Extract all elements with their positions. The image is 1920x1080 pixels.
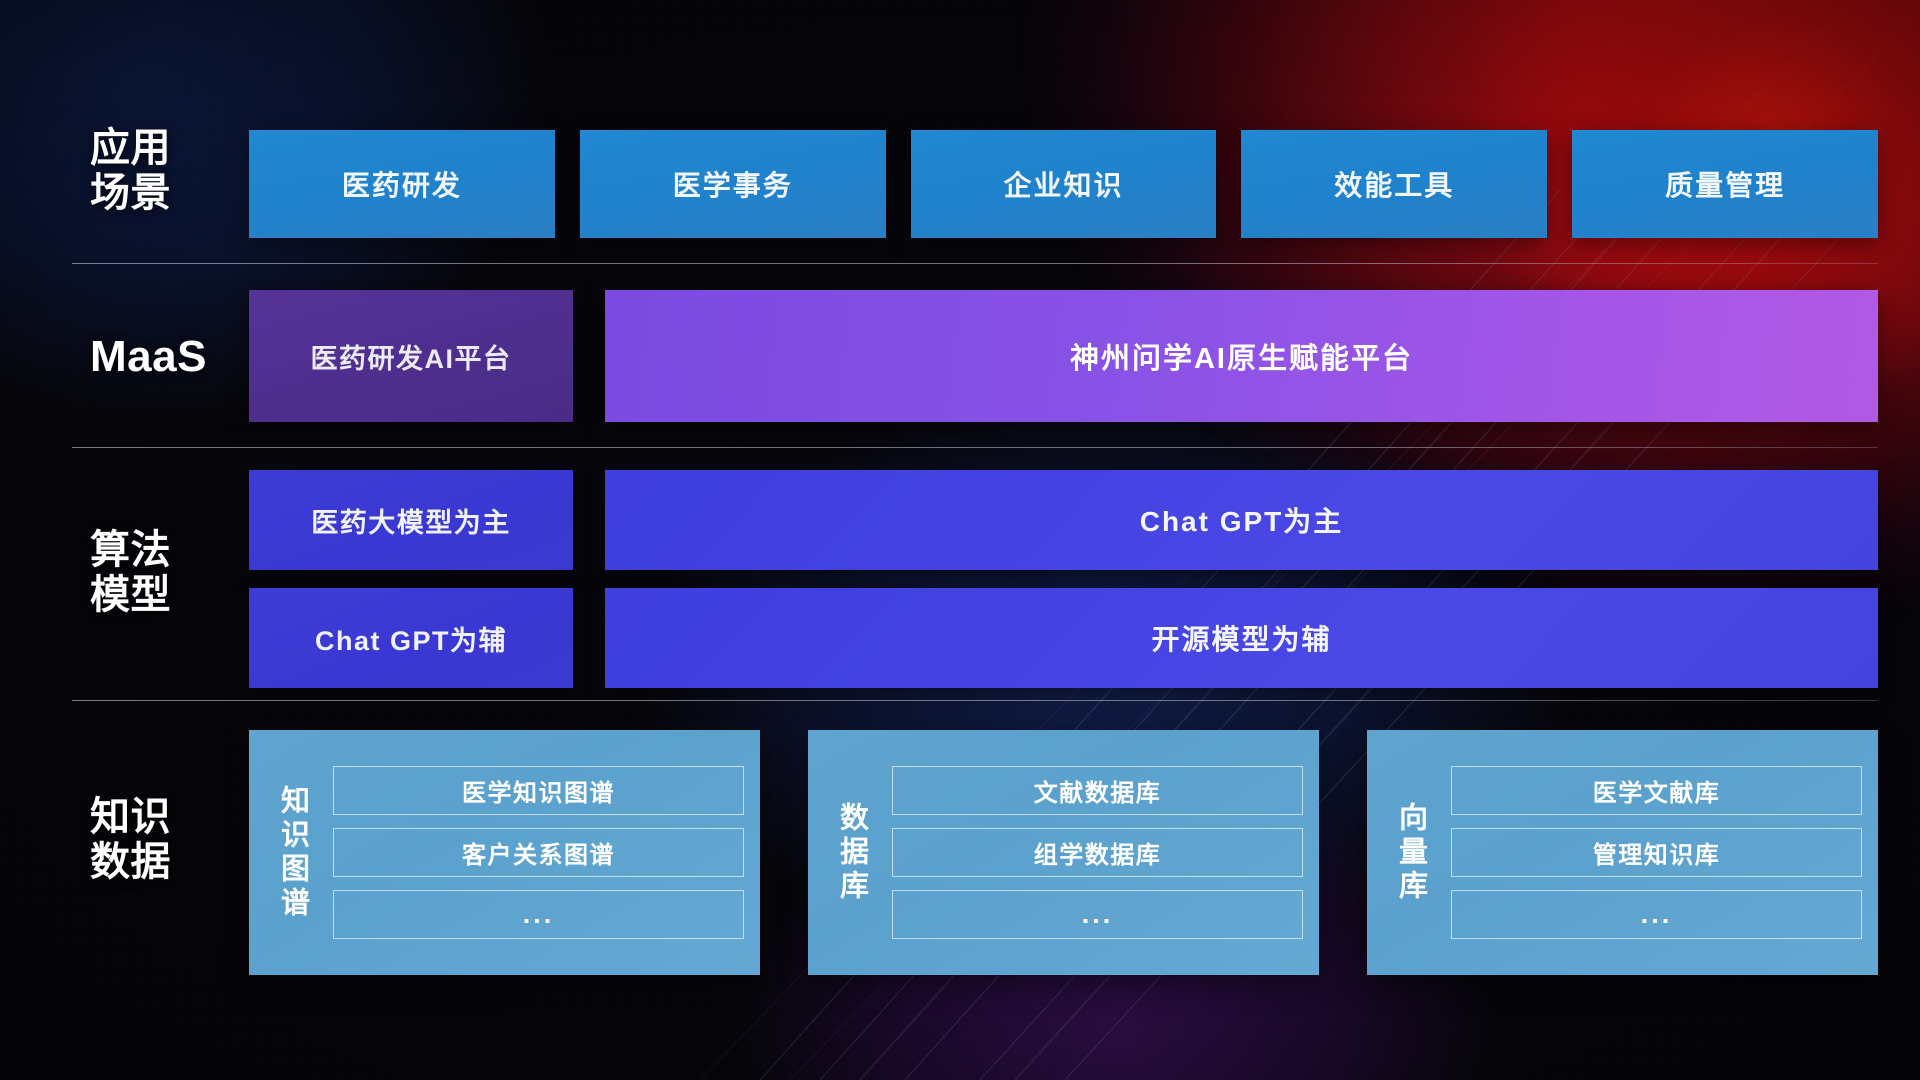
maas-box-shenzhou-wenxue-platform[interactable]: 神州问学AI原生赋能平台 bbox=[605, 290, 1878, 422]
knowledge-panel-knowledge-graph: 知识图谱 医学知识图谱 客户关系图谱 ... bbox=[249, 730, 760, 975]
algorithm-model-boxes: 医药大模型为主 Chat GPT为主 Chat GPT为辅 开源模型为辅 bbox=[249, 470, 1878, 688]
app-box-drug-rnd[interactable]: 医药研发 bbox=[249, 130, 555, 238]
knowledge-item-management-knowledge-store[interactable]: 管理知识库 bbox=[1451, 828, 1862, 877]
knowledge-panels: 知识图谱 医学知识图谱 客户关系图谱 ... 数据库 文献数据库 组学数据库 .… bbox=[249, 730, 1878, 975]
knowledge-panel-title-vector-store: 向量库 bbox=[1381, 742, 1439, 963]
knowledge-item-medical-knowledge-graph[interactable]: 医学知识图谱 bbox=[333, 766, 744, 815]
divider-2 bbox=[72, 447, 1878, 448]
maas-box-drug-rnd-ai-platform[interactable]: 医药研发AI平台 bbox=[249, 290, 573, 422]
algorithm-row-primary: 医药大模型为主 Chat GPT为主 bbox=[249, 470, 1878, 570]
algorithm-row-secondary: Chat GPT为辅 开源模型为辅 bbox=[249, 588, 1878, 688]
maas-boxes: 医药研发AI平台 神州问学AI原生赋能平台 bbox=[249, 290, 1878, 422]
app-box-quality-management[interactable]: 质量管理 bbox=[1572, 130, 1878, 238]
knowledge-item-omics-database[interactable]: 组学数据库 bbox=[892, 828, 1303, 877]
knowledge-item-customer-relation-graph[interactable]: 客户关系图谱 bbox=[333, 828, 744, 877]
knowledge-panel-items: 医学文献库 管理知识库 ... bbox=[1451, 766, 1862, 939]
knowledge-item-more[interactable]: ... bbox=[333, 890, 744, 939]
knowledge-panel-title-knowledge-graph: 知识图谱 bbox=[263, 742, 321, 963]
application-scenario-boxes: 医药研发 医学事务 企业知识 效能工具 质量管理 bbox=[249, 130, 1878, 238]
algo-box-chatgpt-secondary[interactable]: Chat GPT为辅 bbox=[249, 588, 573, 688]
knowledge-panel-vector-store: 向量库 医学文献库 管理知识库 ... bbox=[1367, 730, 1878, 975]
algo-box-opensource-secondary[interactable]: 开源模型为辅 bbox=[605, 588, 1878, 688]
knowledge-panel-items: 文献数据库 组学数据库 ... bbox=[892, 766, 1303, 939]
app-box-enterprise-knowledge[interactable]: 企业知识 bbox=[911, 130, 1217, 238]
knowledge-panel-items: 医学知识图谱 客户关系图谱 ... bbox=[333, 766, 744, 939]
divider-3 bbox=[72, 700, 1878, 701]
divider-1 bbox=[72, 263, 1878, 264]
algo-box-chatgpt-primary[interactable]: Chat GPT为主 bbox=[605, 470, 1878, 570]
app-box-efficiency-tools[interactable]: 效能工具 bbox=[1241, 130, 1547, 238]
knowledge-item-more[interactable]: ... bbox=[1451, 890, 1862, 939]
knowledge-item-medical-literature-store[interactable]: 医学文献库 bbox=[1451, 766, 1862, 815]
app-box-medical-affairs[interactable]: 医学事务 bbox=[580, 130, 886, 238]
knowledge-item-more[interactable]: ... bbox=[892, 890, 1303, 939]
knowledge-item-literature-database[interactable]: 文献数据库 bbox=[892, 766, 1303, 815]
knowledge-panel-database: 数据库 文献数据库 组学数据库 ... bbox=[808, 730, 1319, 975]
knowledge-panel-title-database: 数据库 bbox=[822, 742, 880, 963]
algo-box-pharma-llm-primary[interactable]: 医药大模型为主 bbox=[249, 470, 573, 570]
